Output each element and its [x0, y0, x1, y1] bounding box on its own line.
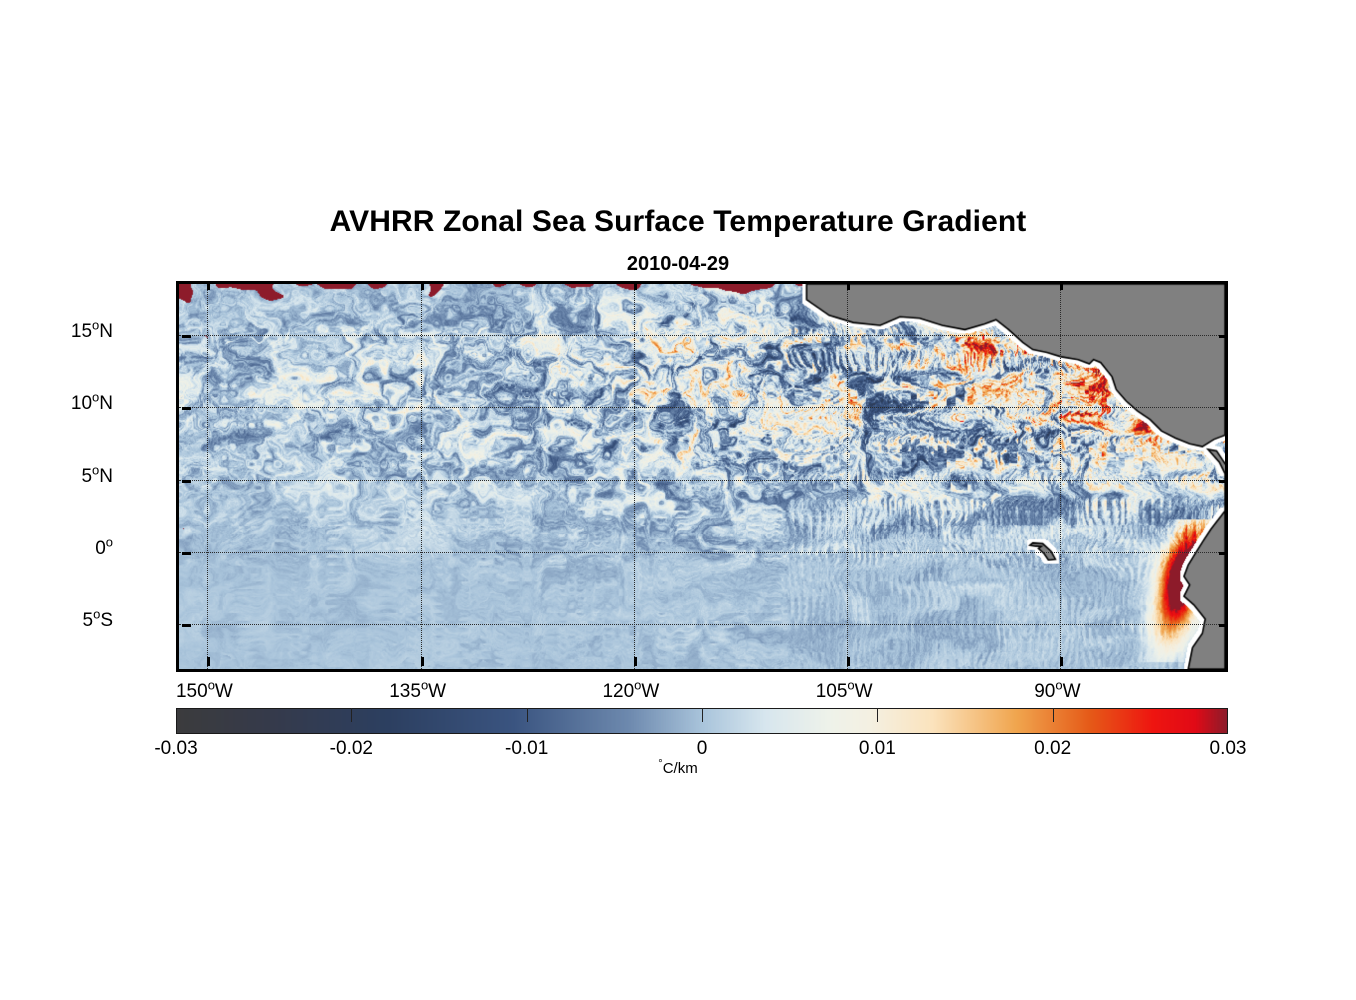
y-axis-tick: [176, 407, 179, 410]
y-axis-tick: [176, 335, 179, 338]
colorbar-tick-label: -0.02: [281, 738, 421, 760]
colorbar-tick: [351, 708, 352, 722]
x-axis-tick: [207, 281, 210, 290]
figure-canvas: AVHRR Zonal Sea Surface Temperature Grad…: [0, 0, 1356, 1000]
x-axis-tick: [1060, 281, 1063, 290]
x-axis-tick: [421, 281, 424, 290]
y-axis-tick: [1219, 552, 1228, 555]
y-axis-tick-label: 5oS: [0, 610, 113, 632]
y-axis-tick-label: 0o: [0, 538, 113, 560]
colorbar-tick: [527, 708, 528, 722]
y-axis-tick: [1219, 624, 1228, 627]
colorbar-unit-label: °C/km: [0, 760, 1356, 777]
x-axis-tick-label: 105oW: [774, 681, 914, 703]
y-axis-tick: [1219, 480, 1228, 483]
y-axis-tick: [1219, 407, 1228, 410]
colorbar-tick: [702, 708, 703, 722]
x-axis-tick: [634, 657, 637, 666]
map-axes: [176, 281, 1228, 672]
x-axis-tick-label: 135oW: [348, 681, 488, 703]
colorbar-tick-label: 0.03: [1158, 738, 1298, 760]
x-axis-tick: [634, 281, 637, 290]
x-axis-tick: [207, 657, 210, 666]
x-axis-tick-label: 90oW: [987, 681, 1127, 703]
y-axis-tick: [176, 552, 179, 555]
y-axis-tick-label: 5oN: [0, 466, 113, 488]
x-axis-tick: [847, 669, 850, 672]
x-axis-tick-label: 150oW: [134, 681, 274, 703]
y-axis-tick: [182, 407, 191, 410]
colorbar-tick-label: -0.01: [457, 738, 597, 760]
x-axis-tick: [421, 657, 424, 666]
x-axis-tick: [1060, 657, 1063, 666]
x-axis-tick: [207, 669, 210, 672]
heatmap-canvas: [179, 284, 1225, 669]
x-axis-tick-label: 120oW: [561, 681, 701, 703]
colorbar-tick-label: 0.02: [983, 738, 1123, 760]
figure-subtitle: 2010-04-29: [0, 253, 1356, 276]
y-axis-tick: [182, 552, 191, 555]
colorbar-tick: [1053, 708, 1054, 722]
x-axis-tick: [847, 281, 850, 290]
y-axis-tick-label: 10oN: [0, 393, 113, 415]
sst-gradient-heatmap: [179, 284, 1225, 669]
x-axis-tick: [634, 669, 637, 672]
y-axis-tick: [182, 335, 191, 338]
y-axis-tick: [1219, 335, 1228, 338]
colorbar-tick-label: 0: [632, 738, 772, 760]
x-axis-tick: [1060, 669, 1063, 672]
colorbar-tick-label: 0.01: [807, 738, 947, 760]
colorbar-tick-label: -0.03: [106, 738, 246, 760]
y-axis-tick-label: 15oN: [0, 321, 113, 343]
y-axis-tick: [182, 480, 191, 483]
x-axis-tick: [847, 657, 850, 666]
y-axis-tick: [176, 480, 179, 483]
x-axis-tick: [421, 669, 424, 672]
y-axis-tick: [176, 624, 179, 627]
y-axis-tick: [182, 624, 191, 627]
page-title: AVHRR Zonal Sea Surface Temperature Grad…: [0, 205, 1356, 239]
colorbar-tick: [877, 708, 878, 722]
